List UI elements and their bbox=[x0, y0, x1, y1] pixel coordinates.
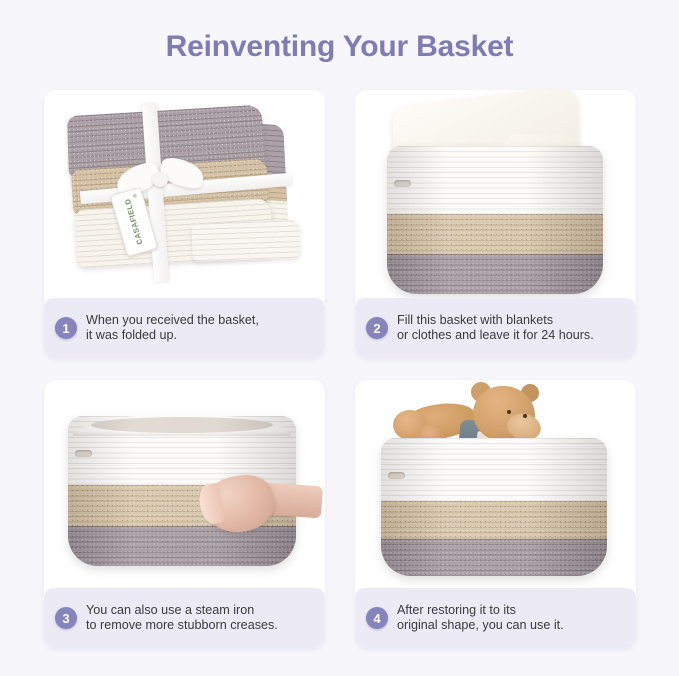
bear-eye-right bbox=[523, 414, 527, 418]
step-number-badge-3: 3 bbox=[55, 607, 77, 629]
brand-logo-text: CASAFIELD bbox=[123, 197, 145, 245]
step-number-badge-4: 4 bbox=[366, 607, 388, 629]
step-card-2: 2 Fill this basket with blankets or clot… bbox=[355, 90, 636, 358]
step-1-photo: CASAFIELD bbox=[44, 90, 325, 298]
step-2-line-1: Fill this basket with blankets bbox=[397, 313, 553, 327]
rope-texture bbox=[191, 220, 300, 262]
step-number-badge-1: 1 bbox=[55, 317, 77, 339]
step-4-line-1: After restoring it to its bbox=[397, 603, 516, 617]
rope-basket-with-pillow bbox=[387, 146, 603, 294]
step-card-3: 3 You can also use a steam iron to remov… bbox=[44, 380, 325, 648]
step-4-caption: 4 After restoring it to its original sha… bbox=[355, 588, 636, 648]
step-4-line-2: original shape, you can use it. bbox=[397, 618, 564, 634]
hang-tag-hole bbox=[132, 193, 137, 198]
step-number-badge-2: 2 bbox=[366, 317, 388, 339]
step-4-photo bbox=[355, 380, 636, 588]
step-3-line-1: You can also use a steam iron bbox=[86, 603, 254, 617]
step-2-caption: 2 Fill this basket with blankets or clot… bbox=[355, 298, 636, 358]
step-1-line-1: When you received the basket, bbox=[86, 313, 259, 327]
step-3-caption: 3 You can also use a steam iron to remov… bbox=[44, 588, 325, 648]
brand-logo: CASAFIELD bbox=[118, 201, 150, 240]
basket-shading bbox=[387, 146, 603, 294]
step-1-caption: 1 When you received the basket, it was f… bbox=[44, 298, 325, 358]
ribbon-bow-knot bbox=[152, 172, 168, 187]
step-3-text: You can also use a steam iron to remove … bbox=[86, 603, 278, 634]
step-2-line-2: or clothes and leave it for 24 hours. bbox=[397, 328, 594, 344]
step-card-4: 4 After restoring it to its original sha… bbox=[355, 380, 636, 648]
steps-grid: CASAFIELD 1 When you received the basket… bbox=[44, 90, 636, 650]
step-2-photo bbox=[355, 90, 636, 298]
step-card-1: CASAFIELD 1 When you received the basket… bbox=[44, 90, 325, 358]
step-3-photo bbox=[44, 380, 325, 588]
basket-shading bbox=[381, 438, 607, 576]
bear-eye-left bbox=[507, 410, 511, 414]
step-1-text: When you received the basket, it was fol… bbox=[86, 313, 259, 344]
rope-basket-with-toys bbox=[381, 438, 607, 576]
step-3-line-2: to remove more stubborn creases. bbox=[86, 618, 278, 634]
folded-basket-illustration: CASAFIELD bbox=[60, 104, 310, 284]
step-4-text: After restoring it to its original shape… bbox=[397, 603, 564, 634]
infographic-page: Reinventing Your Basket bbox=[0, 0, 679, 676]
bundle-folded-flap bbox=[191, 220, 300, 262]
step-2-text: Fill this basket with blankets or clothe… bbox=[397, 313, 594, 344]
page-title: Reinventing Your Basket bbox=[0, 30, 679, 64]
step-1-line-2: it was folded up. bbox=[86, 328, 259, 344]
